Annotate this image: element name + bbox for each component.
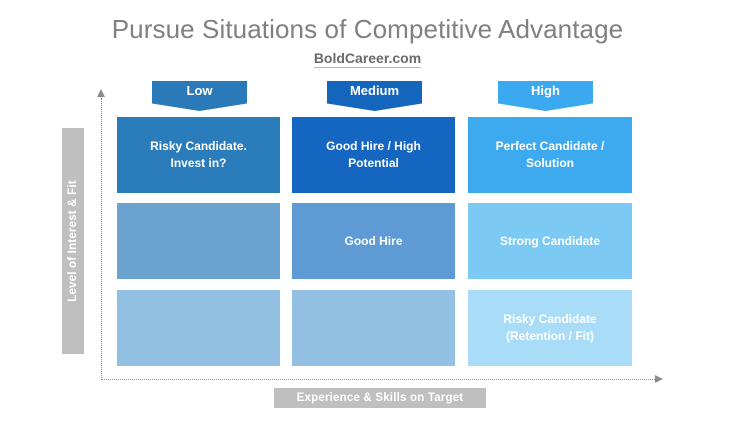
matrix-cell-label: Strong Candidate bbox=[500, 233, 600, 250]
matrix-cell[interactable]: Risky Candidate(Retention / Fit) bbox=[468, 290, 632, 366]
matrix-cell-label: Risky Candidate(Retention / Fit) bbox=[503, 311, 596, 345]
column-header-high-label: High bbox=[531, 83, 560, 98]
page-title: Pursue Situations of Competitive Advanta… bbox=[0, 14, 735, 45]
subtitle-container: BoldCareer.com bbox=[0, 50, 735, 68]
arrow-up-icon bbox=[97, 89, 105, 97]
y-axis-line bbox=[101, 98, 102, 380]
column-header-high[interactable]: High bbox=[498, 81, 593, 111]
x-axis-title-bar: Experience & Skills on Target bbox=[274, 388, 486, 408]
column-header-medium-label: Medium bbox=[350, 83, 399, 98]
matrix-cell-label: Good Hire bbox=[344, 233, 402, 250]
y-axis-title-bar: Level of Interest & Fit bbox=[62, 128, 84, 354]
x-axis-line bbox=[101, 379, 655, 380]
matrix-cell[interactable] bbox=[117, 203, 280, 279]
matrix-cell[interactable] bbox=[117, 290, 280, 366]
column-header-medium[interactable]: Medium bbox=[327, 81, 422, 111]
matrix-cell-label: Good Hire / HighPotential bbox=[326, 138, 421, 172]
matrix-cell-label: Risky Candidate.Invest in? bbox=[150, 138, 247, 172]
matrix-cell[interactable]: Good Hire bbox=[292, 203, 455, 279]
y-axis-label: Level of Interest & Fit bbox=[67, 180, 79, 302]
matrix-cell[interactable] bbox=[292, 290, 455, 366]
slide-canvas: Pursue Situations of Competitive Advanta… bbox=[0, 0, 735, 432]
x-axis-label: Experience & Skills on Target bbox=[297, 392, 464, 404]
brand-subtitle: BoldCareer.com bbox=[314, 50, 421, 68]
arrow-right-icon bbox=[655, 375, 663, 383]
matrix-cell[interactable]: Good Hire / HighPotential bbox=[292, 117, 455, 193]
matrix-cell-label: Perfect Candidate /Solution bbox=[496, 138, 605, 172]
matrix-cell[interactable]: Strong Candidate bbox=[468, 203, 632, 279]
matrix-cell[interactable]: Perfect Candidate /Solution bbox=[468, 117, 632, 193]
column-header-low[interactable]: Low bbox=[152, 81, 247, 111]
matrix-cell[interactable]: Risky Candidate.Invest in? bbox=[117, 117, 280, 193]
column-header-low-label: Low bbox=[187, 83, 213, 98]
